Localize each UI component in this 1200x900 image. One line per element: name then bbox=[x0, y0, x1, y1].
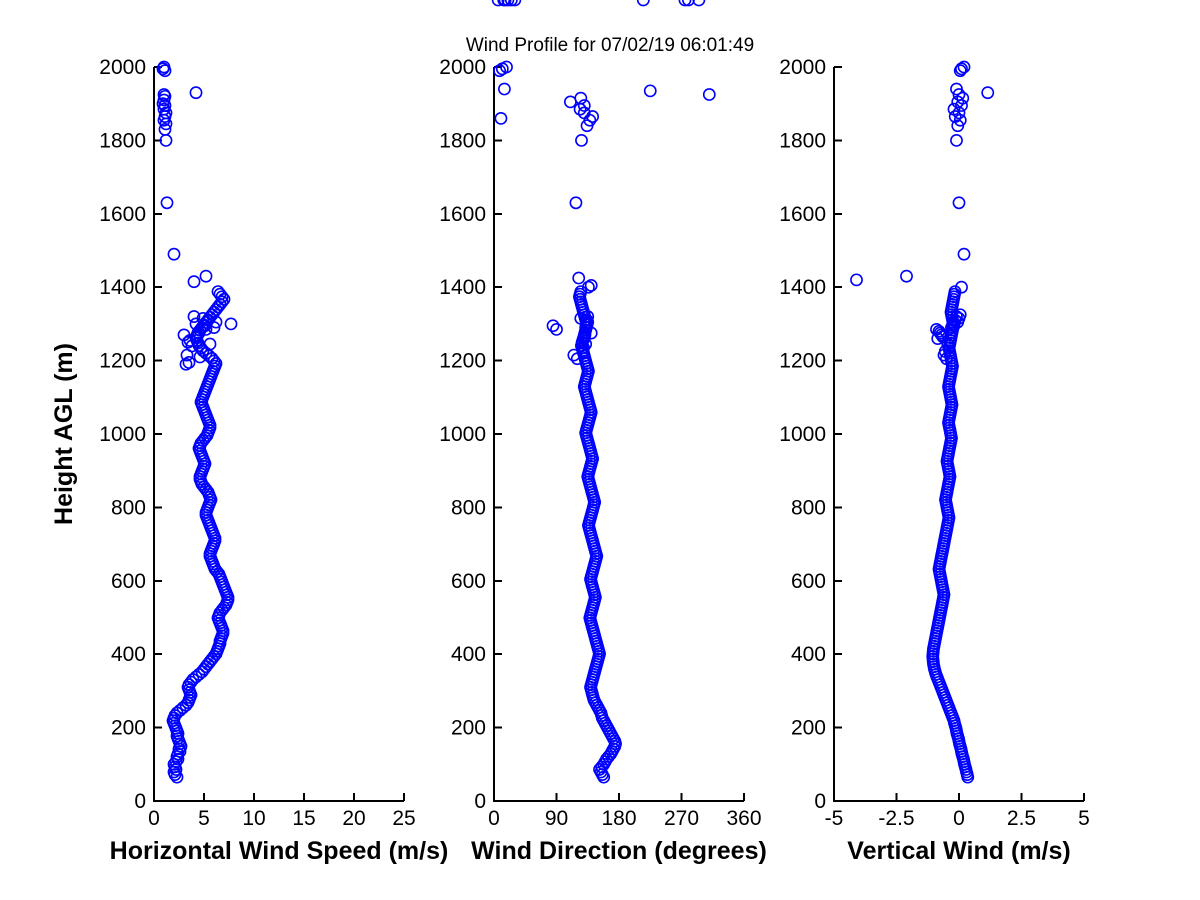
x-tick-label: 360 bbox=[726, 807, 761, 830]
x-tick-label: 20 bbox=[342, 807, 365, 830]
data-point bbox=[160, 135, 171, 146]
data-point bbox=[645, 85, 656, 96]
y-tick-label: 600 bbox=[791, 570, 826, 593]
data-point bbox=[951, 135, 962, 146]
data-point bbox=[901, 271, 912, 282]
y-tick-label: 0 bbox=[474, 790, 486, 813]
y-tick-label: 2000 bbox=[439, 56, 486, 79]
y-tick-label: 1000 bbox=[99, 423, 146, 446]
y-tick-label: 200 bbox=[791, 717, 826, 740]
y-tick-label: 800 bbox=[111, 496, 146, 519]
y-tick-label: 1800 bbox=[779, 129, 826, 152]
data-point bbox=[565, 96, 576, 107]
y-tick-label: 1200 bbox=[439, 350, 486, 373]
x-tick-label: 5 bbox=[1078, 807, 1090, 830]
y-tick-label: 1400 bbox=[99, 276, 146, 299]
x-tick-label: 5 bbox=[198, 807, 210, 830]
y-tick-label: 800 bbox=[451, 496, 486, 519]
x-tick-label: 2.5 bbox=[1007, 807, 1036, 830]
x-tick-label: 0 bbox=[953, 807, 965, 830]
data-point bbox=[200, 271, 211, 282]
x-tick-label: 270 bbox=[664, 807, 699, 830]
data-point bbox=[501, 61, 512, 72]
data-point bbox=[638, 0, 649, 6]
x-axis-label: Vertical Wind (m/s) bbox=[847, 837, 1070, 865]
axis-frame bbox=[494, 67, 744, 801]
data-point bbox=[495, 113, 506, 124]
y-tick-label: 800 bbox=[791, 496, 826, 519]
x-tick-label: 0 bbox=[488, 807, 500, 830]
data-series-horizontal-wind-speed bbox=[157, 61, 236, 782]
y-axis-label: Height AGL (m) bbox=[50, 343, 78, 525]
x-tick-label: 10 bbox=[242, 807, 265, 830]
data-point bbox=[570, 197, 581, 208]
data-point bbox=[958, 249, 969, 260]
y-tick-label: 1800 bbox=[99, 129, 146, 152]
data-point bbox=[851, 274, 862, 285]
x-axis-label: Wind Direction (degrees) bbox=[471, 837, 767, 865]
y-tick-label: 200 bbox=[451, 717, 486, 740]
y-tick-label: 1600 bbox=[439, 203, 486, 226]
wind-profile-figure: Height AGL (m)Wind Profile for 07/02/19 … bbox=[0, 0, 1200, 900]
x-tick-label: 90 bbox=[545, 807, 568, 830]
y-tick-label: 1800 bbox=[439, 129, 486, 152]
data-point bbox=[982, 87, 993, 98]
y-tick-label: 1200 bbox=[99, 350, 146, 373]
y-tick-label: 400 bbox=[791, 643, 826, 666]
figure-title: Wind Profile for 07/02/19 06:01:49 bbox=[466, 35, 754, 56]
data-point bbox=[204, 338, 215, 349]
y-tick-label: 2000 bbox=[99, 56, 146, 79]
data-point bbox=[693, 0, 704, 6]
y-tick-label: 600 bbox=[451, 570, 486, 593]
y-tick-label: 1600 bbox=[779, 203, 826, 226]
y-tick-label: 1000 bbox=[439, 423, 486, 446]
y-tick-label: 1200 bbox=[779, 350, 826, 373]
y-tick-label: 2000 bbox=[779, 56, 826, 79]
panel-wind-direction: 0200400600800100012001400160018002000090… bbox=[439, 0, 767, 865]
panel-vertical-wind: 0200400600800100012001400160018002000-5-… bbox=[779, 56, 1090, 865]
data-point bbox=[704, 89, 715, 100]
wind-profile-plot: Height AGL (m)Wind Profile for 07/02/19 … bbox=[0, 0, 1200, 900]
data-point bbox=[499, 83, 510, 94]
y-tick-label: 200 bbox=[111, 717, 146, 740]
x-tick-label: 180 bbox=[601, 807, 636, 830]
x-tick-label: 0 bbox=[148, 807, 160, 830]
y-tick-label: 1000 bbox=[779, 423, 826, 446]
y-tick-label: 400 bbox=[451, 643, 486, 666]
data-point bbox=[188, 276, 199, 287]
data-point bbox=[225, 318, 236, 329]
y-tick-label: 1400 bbox=[439, 276, 486, 299]
y-tick-label: 400 bbox=[111, 643, 146, 666]
y-tick-label: 0 bbox=[134, 790, 146, 813]
y-tick-label: 1600 bbox=[99, 203, 146, 226]
x-tick-label: -2.5 bbox=[878, 807, 914, 830]
axis-frame bbox=[834, 67, 1084, 801]
data-point bbox=[576, 135, 587, 146]
data-point bbox=[953, 197, 964, 208]
x-tick-label: 25 bbox=[392, 807, 415, 830]
data-series-wind-direction bbox=[493, 0, 715, 783]
data-point bbox=[161, 197, 172, 208]
x-tick-label: -5 bbox=[825, 807, 844, 830]
data-point bbox=[190, 87, 201, 98]
x-tick-label: 15 bbox=[292, 807, 315, 830]
y-tick-label: 600 bbox=[111, 570, 146, 593]
panel-horizontal-wind-speed: 0200400600800100012001400160018002000051… bbox=[99, 56, 448, 865]
data-series-vertical-wind bbox=[851, 61, 993, 782]
x-axis-label: Horizontal Wind Speed (m/s) bbox=[110, 837, 449, 865]
data-point bbox=[573, 272, 584, 283]
y-tick-label: 1400 bbox=[779, 276, 826, 299]
data-point bbox=[168, 249, 179, 260]
data-point bbox=[183, 357, 194, 368]
